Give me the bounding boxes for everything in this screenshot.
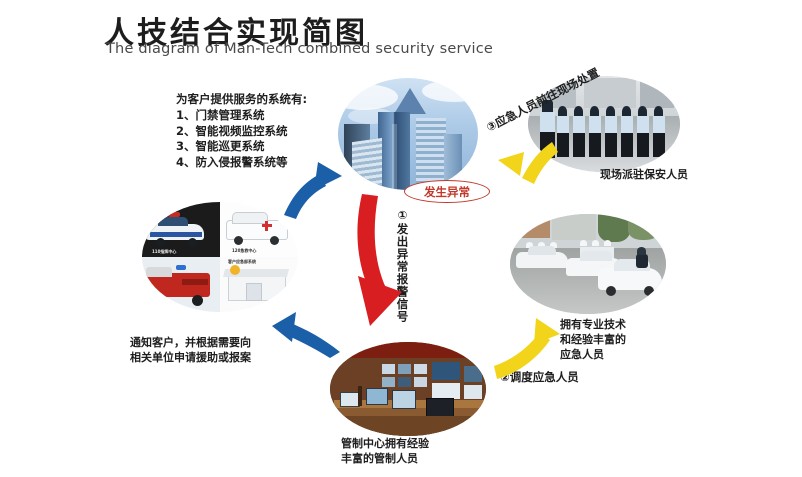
step-1-label: ①发出异常报警信号 [396,208,408,323]
collage-shelter: 客户应急部系统 [220,257,298,312]
status-badge-abnormal: 发生异常 [404,180,490,203]
caption-onsite-guards: 现场派驻保安人员 [600,168,688,183]
diagram-canvas: 人技结合实现简图 The diagram of Man-Tech combine… [0,0,802,477]
step-2-label: ②调度应急人员 [500,370,579,386]
collage-police: 110指挥中心 [142,202,220,257]
collage-ambulance: 120急救中心 [220,202,298,257]
collage-police-caption: 110指挥中心 [152,249,176,255]
caption-control-center: 管制中心拥有经验 丰富的管制人员 [341,437,429,467]
systems-list-items: 1、门禁管理系统 2、智能视频监控系统 3、智能巡更系统 4、防入侵报警系统等 [176,108,288,170]
caption-professional-responders: 拥有专业技术 和经验丰富的 应急人员 [560,318,626,363]
collage-fire [142,257,220,312]
caption-notify-client: 通知客户，并根据需要向 相关单位申请援助或报案 [130,336,251,366]
collage-shelter-caption: 客户应急部系统 [228,259,256,265]
monitoring-control-room-photo [330,342,486,436]
skyscraper-building-photo [338,78,478,190]
emergency-services-collage-photo: 110指挥中心 120急救中心 客户应急部系统 [142,202,298,312]
patrol-cars-and-responders-photo [510,214,666,314]
page-subtitle: The diagram of Man-Tech combined securit… [106,41,493,57]
systems-list-heading: 为客户提供服务的系统有: [176,92,307,108]
collage-ambulance-caption: 120急救中心 [232,248,256,254]
